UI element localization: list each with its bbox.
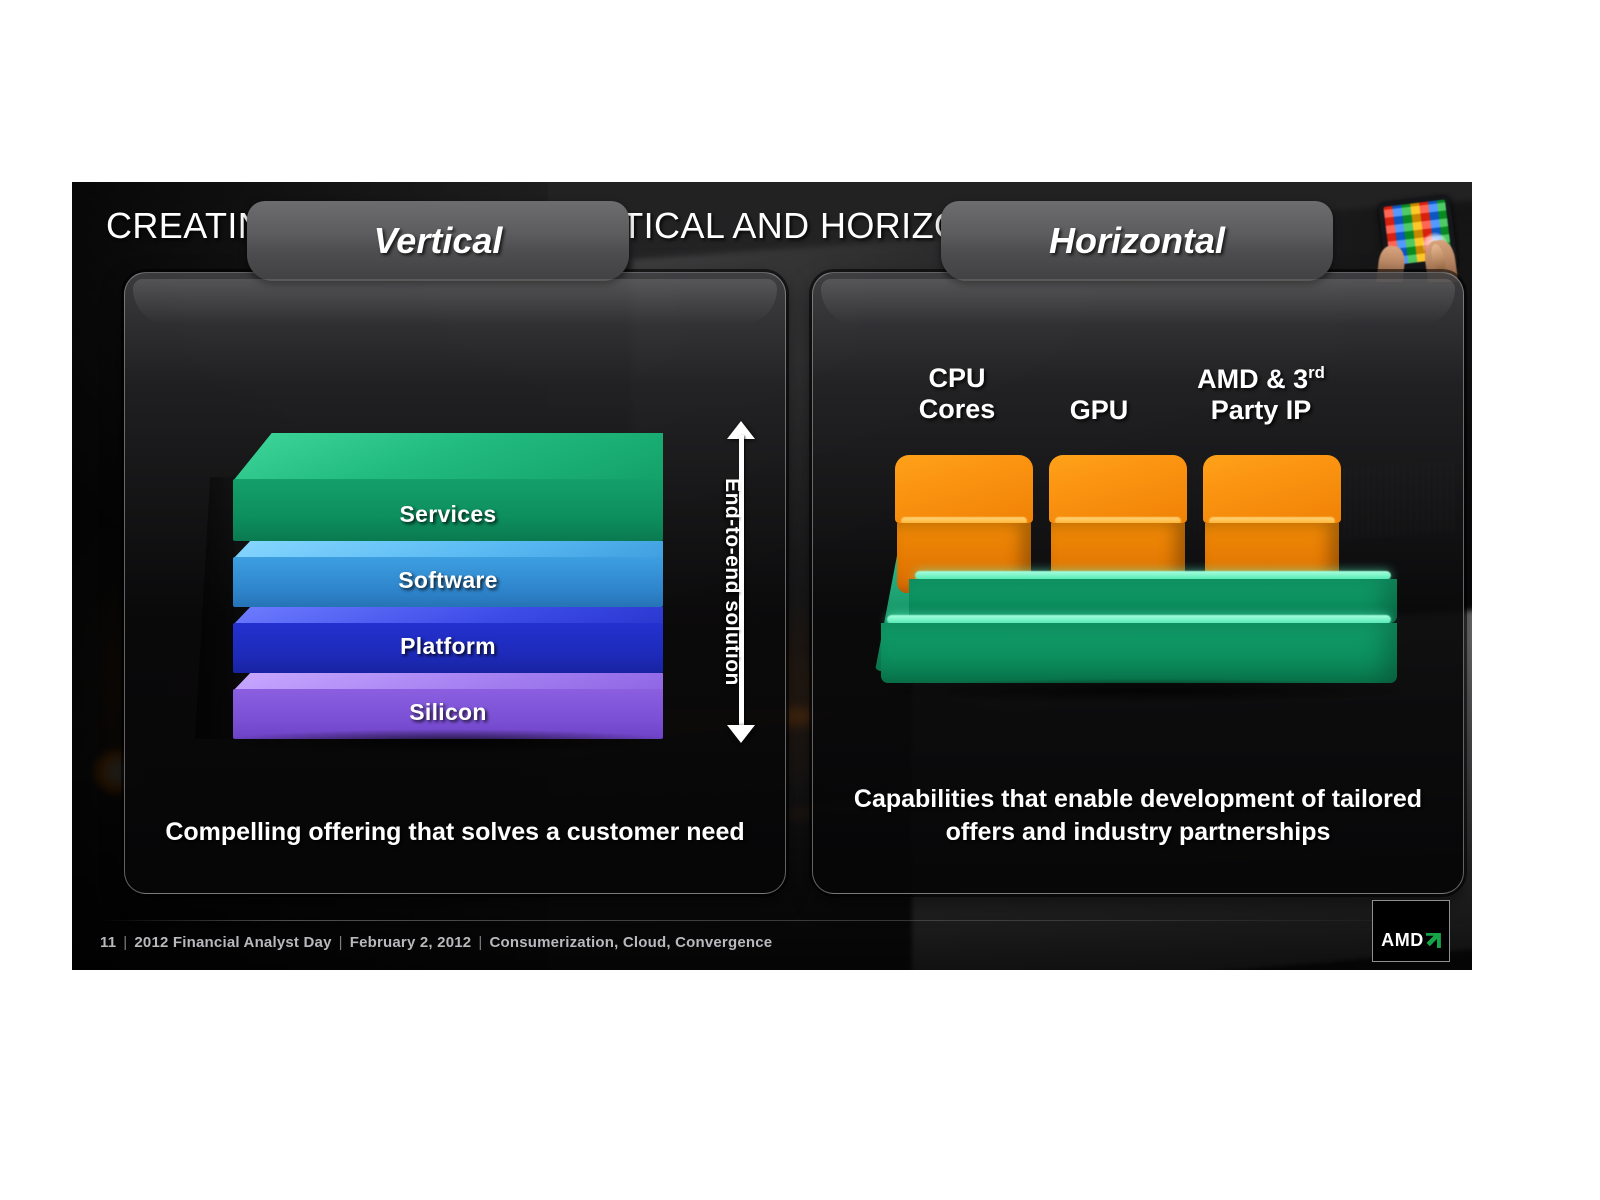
stack-layer-services: Services (233, 433, 663, 541)
end-to-end-label: End-to-end solution (715, 421, 749, 743)
stack-layer-platform: Platform (233, 607, 663, 673)
block-label-ip-superscript: rd (1308, 363, 1325, 382)
footer-separator: | (116, 934, 134, 951)
vertical-stack-diagram: Services Software Platform Silicon (233, 433, 663, 733)
horizontal-diagram-shadow (873, 679, 1413, 703)
stack-layer-software: Software (233, 541, 663, 607)
stack-side-shading (195, 477, 235, 739)
slab-front-face (881, 623, 1397, 683)
stack-layer-label: Software (233, 567, 663, 594)
footer-separator: | (332, 934, 350, 951)
stack-layer-label: Services (233, 501, 663, 528)
footer-separator: | (471, 934, 489, 951)
amd-wordmark: AMD (1381, 930, 1441, 951)
panel-vertical: Vertical Services Software Platform (124, 272, 786, 894)
slide-canvas: CREATING INTEGRATED VERTICAL AND HORIZON… (72, 182, 1472, 970)
block-top-face (1203, 455, 1341, 523)
tab-horizontal-label: Horizontal (1049, 220, 1225, 262)
block-label-cpu-line1: CPU (887, 363, 1027, 394)
tab-vertical[interactable]: Vertical (247, 201, 629, 281)
tab-vertical-label: Vertical (374, 220, 503, 262)
tablet-photo-thumbnail (1368, 192, 1460, 282)
block-label-ip-line2: Party IP (1161, 395, 1361, 426)
block-top-face (895, 455, 1033, 523)
panel-horizontal: Horizontal CPU Cores GPU AMD & 3rd Party… (812, 272, 1464, 894)
footer-theme: Consumerization, Cloud, Convergence (489, 934, 772, 951)
block-label-gpu: GPU (1029, 395, 1169, 426)
stack-layer-label: Platform (233, 633, 663, 660)
layer-top-face (233, 433, 663, 481)
footer-page-number: 11 (100, 934, 116, 951)
footer-event: 2012 Financial Analyst Day (134, 934, 331, 951)
footer-text: 11|2012 Financial Analyst Day|February 2… (100, 934, 772, 951)
panel-vertical-caption: Compelling offering that solves a custom… (125, 816, 785, 849)
block-label-cpu-cores: CPU Cores (887, 363, 1027, 425)
block-label-third-party-ip: AMD & 3rd Party IP (1161, 363, 1361, 426)
block-label-ip-line1: AMD & 3rd (1161, 363, 1361, 395)
block-label-ip-line1-text: AMD & 3 (1197, 364, 1308, 394)
block-label-gpu-line1: GPU (1029, 395, 1169, 426)
amd-wordmark-text: AMD (1381, 930, 1424, 951)
stack-layer-label: Silicon (233, 699, 663, 726)
end-to-end-arrow: End-to-end solution (723, 421, 793, 743)
amd-arrow-icon (1426, 933, 1441, 948)
amd-logo: AMD (1372, 900, 1450, 962)
footer-divider (100, 920, 1440, 921)
base-slab-lower (881, 615, 1397, 683)
block-top-face (1049, 455, 1187, 523)
horizontal-platform-diagram: CPU Cores GPU AMD & 3rd Party IP (873, 363, 1413, 713)
panel-horizontal-caption: Capabilities that enable development of … (813, 783, 1463, 849)
footer-date: February 2, 2012 (350, 934, 472, 951)
tab-horizontal[interactable]: Horizontal (941, 201, 1333, 281)
block-label-cpu-line2: Cores (887, 394, 1027, 425)
stack-drop-shadow (213, 729, 683, 755)
